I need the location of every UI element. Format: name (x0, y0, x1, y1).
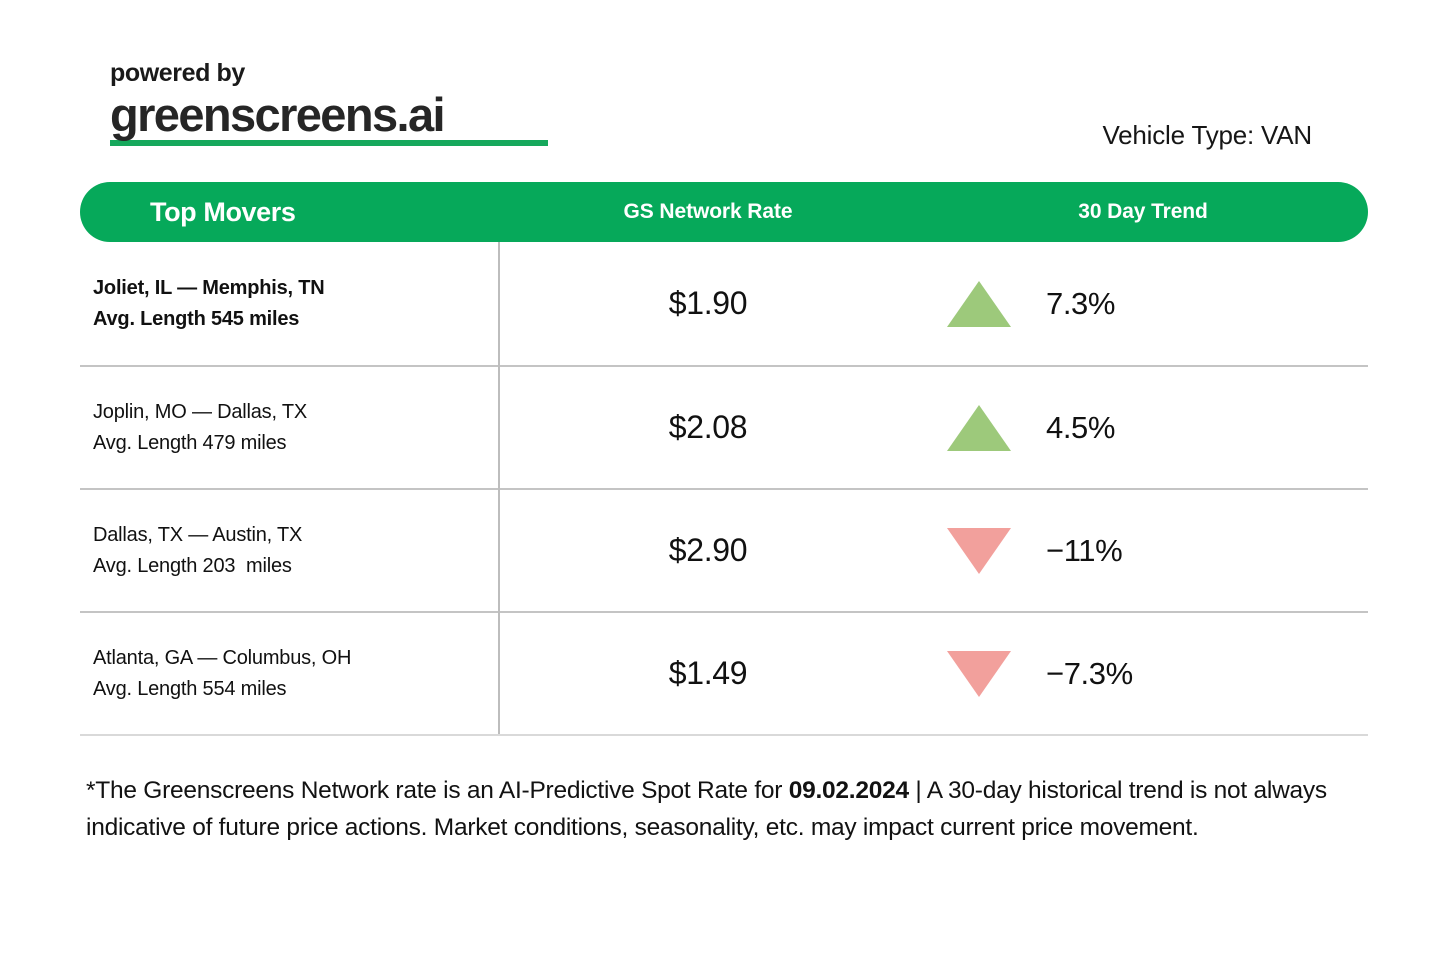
brand-name-text: greenscreens.ai (110, 90, 570, 139)
triangle-down-icon (946, 649, 1012, 699)
lane-avg-length: Avg. Length 479 miles (93, 428, 498, 459)
lane-avg-length: Avg. Length 554 miles (93, 674, 498, 705)
triangle-down-icon (946, 526, 1012, 576)
trend-cell: −7.3% (918, 649, 1368, 699)
trend-cell: −11% (918, 526, 1368, 576)
triangle-up-icon (946, 279, 1012, 329)
triangle-up-icon (946, 403, 1012, 453)
lane-cell: Atlanta, GA — Columbus, OH Avg. Length 5… (80, 643, 498, 705)
lane-cell: Joliet, IL — Memphis, TN Avg. Length 545… (80, 273, 498, 335)
trend-percent-value: −11% (1046, 533, 1122, 569)
lane-avg-length: Avg. Length 545 miles (93, 304, 498, 335)
table-row: Joplin, MO — Dallas, TX Avg. Length 479 … (80, 365, 1368, 488)
table-body: Joliet, IL — Memphis, TN Avg. Length 545… (80, 242, 1368, 736)
lane-name: Atlanta, GA — Columbus, OH (93, 643, 498, 674)
lane-avg-length: Avg. Length 203 miles (93, 551, 498, 582)
gs-network-rate-value: $1.49 (498, 655, 918, 692)
gs-network-rate-value: $1.90 (498, 285, 918, 322)
lane-name: Joliet, IL — Memphis, TN (93, 273, 498, 304)
lane-cell: Joplin, MO — Dallas, TX Avg. Length 479 … (80, 397, 498, 459)
brand-underline-rule (110, 140, 548, 146)
footnote-part-1: *The Greenscreens Network rate is an AI-… (86, 777, 789, 804)
column-header-gs-network-rate: GS Network Rate (498, 200, 918, 224)
top-movers-table: Top Movers GS Network Rate 30 Day Trend … (80, 182, 1368, 736)
footnote-disclaimer: *The Greenscreens Network rate is an AI-… (86, 772, 1376, 846)
lane-cell: Dallas, TX — Austin, TX Avg. Length 203 … (80, 520, 498, 582)
brand-powered-by-text: powered by (110, 60, 570, 88)
table-row: Atlanta, GA — Columbus, OH Avg. Length 5… (80, 611, 1368, 734)
trend-percent-value: −7.3% (1046, 656, 1133, 692)
column-header-top-movers: Top Movers (80, 197, 498, 228)
table-row: Dallas, TX — Austin, TX Avg. Length 203 … (80, 488, 1368, 611)
footnote-rate-date: 09.02.2024 (789, 777, 909, 804)
trend-percent-value: 4.5% (1046, 410, 1115, 446)
brand-logo: powered by greenscreens.ai (110, 60, 570, 146)
vehicle-type-label: Vehicle Type: VAN (1102, 120, 1312, 151)
column-header-30-day-trend: 30 Day Trend (918, 200, 1368, 224)
table-row: Joliet, IL — Memphis, TN Avg. Length 545… (80, 242, 1368, 365)
gs-network-rate-value: $2.08 (498, 409, 918, 446)
gs-network-rate-value: $2.90 (498, 532, 918, 569)
lane-name: Dallas, TX — Austin, TX (93, 520, 498, 551)
trend-cell: 7.3% (918, 279, 1368, 329)
top-movers-rate-card: powered by greenscreens.ai Vehicle Type:… (0, 0, 1440, 964)
table-header-row: Top Movers GS Network Rate 30 Day Trend (80, 182, 1368, 242)
lane-name: Joplin, MO — Dallas, TX (93, 397, 498, 428)
trend-percent-value: 7.3% (1046, 286, 1115, 322)
trend-cell: 4.5% (918, 403, 1368, 453)
